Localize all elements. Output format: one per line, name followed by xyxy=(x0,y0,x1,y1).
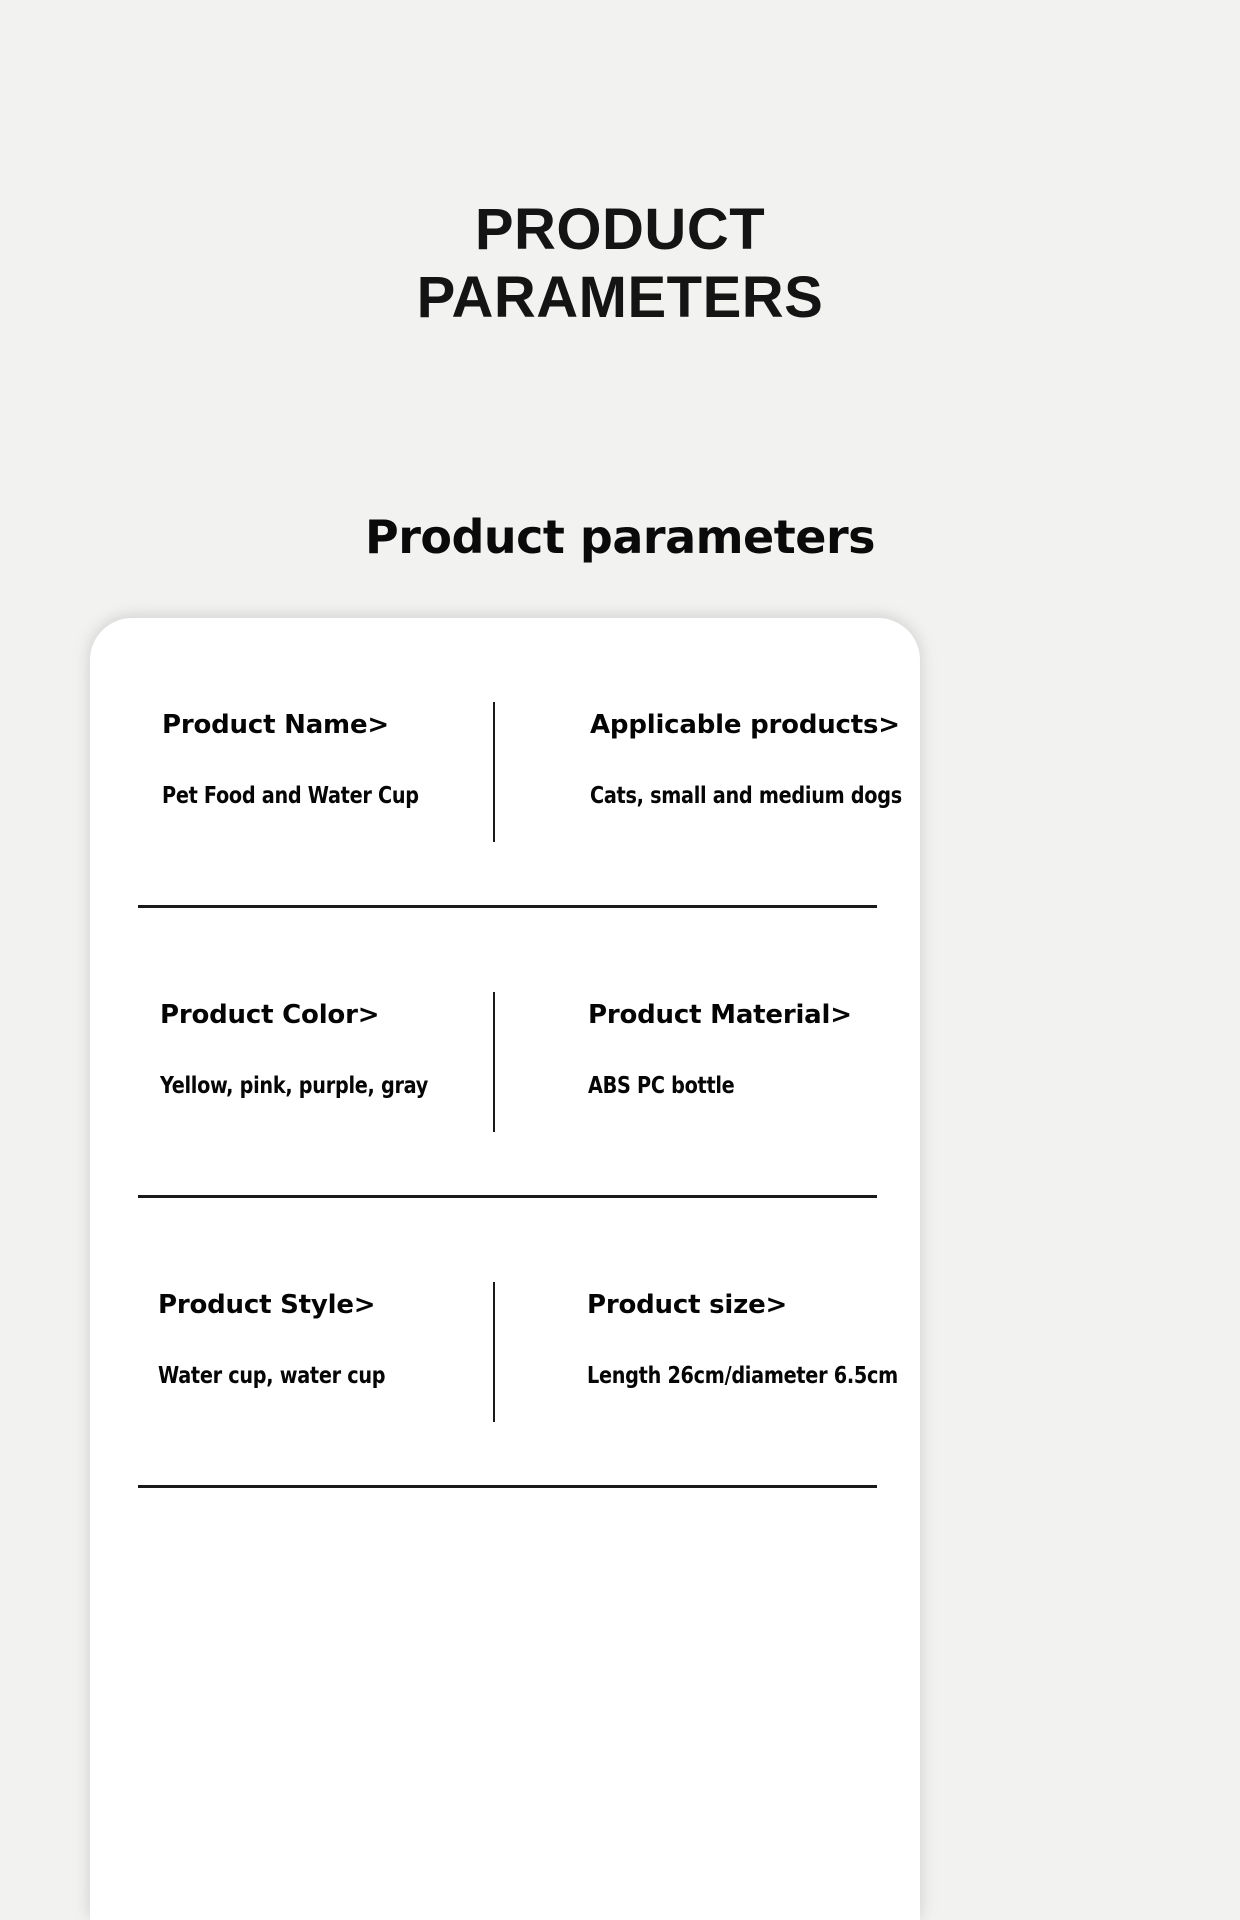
spec-card: Product Name> Pet Food and Water Cup App… xyxy=(90,618,920,1920)
spec-label: Product Color> xyxy=(160,1000,505,1030)
banner-heading-line-2: PARAMETERS xyxy=(0,264,1240,332)
section-subtitle: Product parameters xyxy=(0,508,1240,566)
spec-label: Product size> xyxy=(587,1290,920,1320)
spec-cell-left: Product Color> Yellow, pink, purple, gra… xyxy=(90,908,505,1198)
spec-value: Yellow, pink, purple, gray xyxy=(160,1072,481,1100)
spec-row: Product Color> Yellow, pink, purple, gra… xyxy=(90,908,920,1198)
spec-value: Cats, small and medium dogs xyxy=(590,782,897,810)
spec-label: Applicable products> xyxy=(590,710,920,740)
spec-row-list: Product Name> Pet Food and Water Cup App… xyxy=(90,618,920,1488)
spec-label: Product Name> xyxy=(162,710,505,740)
spec-label: Product Style> xyxy=(158,1290,505,1320)
spec-cell-left: Product Name> Pet Food and Water Cup xyxy=(90,618,505,908)
spec-cell-right: Product Material> ABS PC bottle xyxy=(505,908,920,1198)
row-divider xyxy=(138,1485,877,1488)
column-divider xyxy=(493,992,495,1132)
spec-label: Product Material> xyxy=(588,1000,920,1030)
spec-row: Product Style> Water cup, water cup Prod… xyxy=(90,1198,920,1488)
spec-cell-left: Product Style> Water cup, water cup xyxy=(90,1198,505,1488)
column-divider xyxy=(493,702,495,842)
banner-heading: PRODUCT PARAMETERS xyxy=(0,196,1240,332)
column-divider xyxy=(493,1282,495,1422)
spec-value: Length 26cm/diameter 6.5cm xyxy=(587,1362,897,1390)
spec-value: Pet Food and Water Cup xyxy=(162,782,481,810)
banner-heading-line-1: PRODUCT xyxy=(0,196,1240,264)
spec-cell-right: Applicable products> Cats, small and med… xyxy=(505,618,920,908)
product-parameters-page: PRODUCT PARAMETERS Product parameters Pr… xyxy=(0,0,1240,1920)
spec-cell-right: Product size> Length 26cm/diameter 6.5cm xyxy=(505,1198,920,1488)
spec-row: Product Name> Pet Food and Water Cup App… xyxy=(90,618,920,908)
spec-value: ABS PC bottle xyxy=(588,1072,897,1100)
spec-value: Water cup, water cup xyxy=(158,1362,481,1390)
